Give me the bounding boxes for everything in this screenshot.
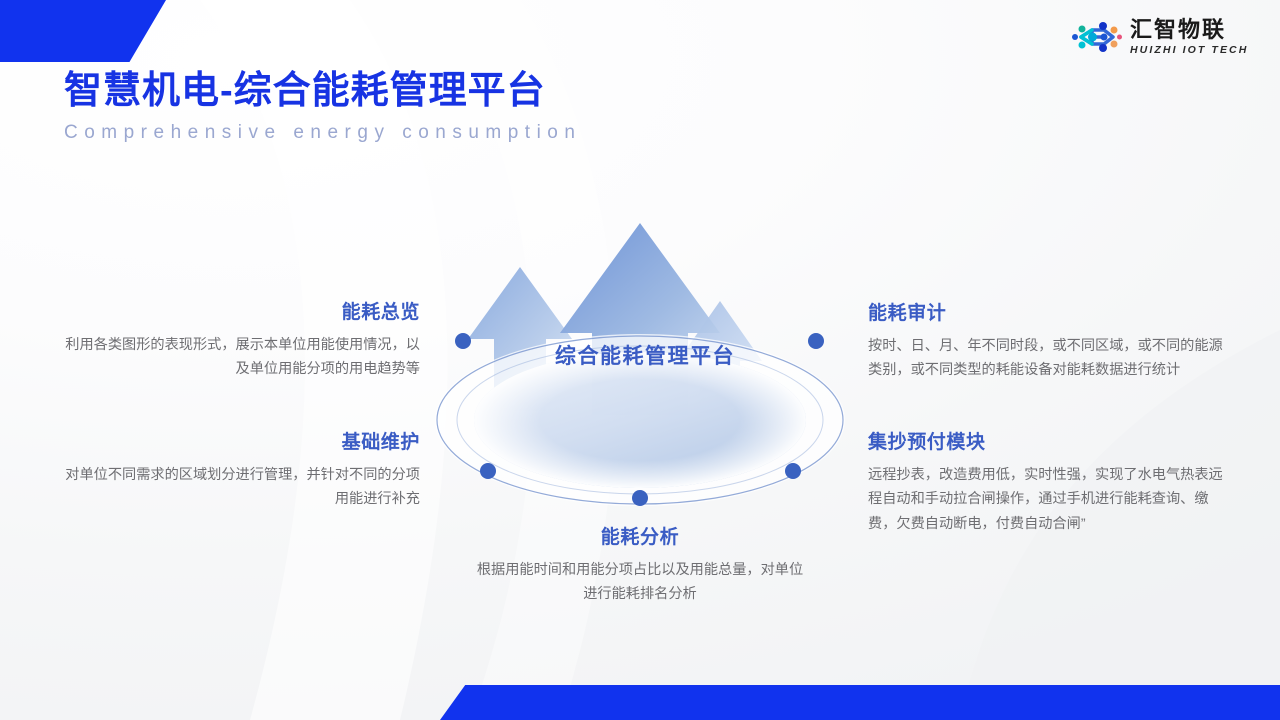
feature-title: 基础维护: [60, 432, 420, 455]
feature-title: 能耗总览: [60, 302, 420, 325]
feature-body: 远程抄表，改造费用低，实时性强，实现了水电气热表远程自动和手动拉合闸操作，通过手…: [868, 463, 1228, 536]
feature-title: 能耗审计: [868, 303, 1228, 326]
page-title: 智慧机电-综合能耗管理平台: [64, 70, 581, 114]
molecule-network-icon: [1070, 20, 1122, 54]
orbit-dot: [785, 463, 801, 479]
page-subtitle: Comprehensive energy consumption: [64, 122, 581, 144]
feature-meter-prepay-module: 集抄预付模块 远程抄表，改造费用低，实时性强，实现了水电气热表远程自动和手动拉合…: [868, 432, 1228, 536]
feature-body: 按时、日、月、年不同时段，或不同区域，或不同的能源类别，或不同类型的耗能设备对能…: [868, 334, 1228, 383]
feature-energy-audit: 能耗审计 按时、日、月、年不同时段，或不同区域，或不同的能源类别，或不同类型的耗…: [868, 303, 1228, 383]
feature-title: 能耗分析: [470, 527, 810, 550]
feature-title: 集抄预付模块: [868, 432, 1228, 455]
feature-body: 利用各类图形的表现形式，展示本单位用能使用情况，以及单位用能分项的用电趋势等: [60, 333, 420, 382]
feature-body: 对单位不同需求的区域划分进行管理，并针对不同的分项用能进行补充: [60, 463, 420, 512]
brand-name-en: HUIZHI IOT TECH: [1130, 45, 1248, 56]
center-platform-label: 综合能耗管理平台: [420, 340, 870, 370]
orbit-dot: [632, 490, 648, 506]
corner-wedge-bottom-right: [440, 685, 1280, 720]
page-title-block: 智慧机电-综合能耗管理平台 Comprehensive energy consu…: [64, 70, 581, 144]
feature-energy-overview: 能耗总览 利用各类图形的表现形式，展示本单位用能使用情况，以及单位用能分项的用电…: [60, 302, 420, 382]
brand-name-cn: 汇智物联: [1130, 19, 1226, 41]
feature-body: 根据用能时间和用能分项占比以及用能总量，对单位进行能耗排名分析: [470, 558, 810, 607]
slide-canvas: 汇智物联 HUIZHI IOT TECH 智慧机电-综合能耗管理平台 Compr…: [0, 0, 1280, 720]
feature-basic-maintenance: 基础维护 对单位不同需求的区域划分进行管理，并针对不同的分项用能进行补充: [60, 432, 420, 512]
orbit-dot: [480, 463, 496, 479]
brand-logo: 汇智物联 HUIZHI IOT TECH: [1070, 12, 1270, 62]
feature-energy-analysis: 能耗分析 根据用能时间和用能分项占比以及用能总量，对单位进行能耗排名分析: [470, 527, 810, 607]
brand-logo-text: 汇智物联 HUIZHI IOT TECH: [1130, 19, 1248, 56]
